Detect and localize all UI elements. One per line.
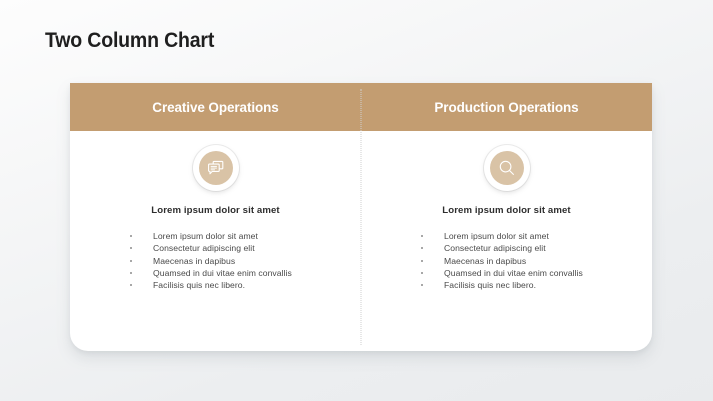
list-item: Consectetur adipiscing elit <box>419 242 634 254</box>
list-item: Lorem ipsum dolor sit amet <box>419 230 634 242</box>
list-item: Quamsed in dui vitae enim convallis <box>419 267 634 279</box>
search-icon-badge <box>484 145 530 191</box>
list-item: Maecenas in dapibus <box>128 255 343 267</box>
page-title: Two Column Chart <box>45 29 214 53</box>
list-item: Consectetur adipiscing elit <box>128 242 343 254</box>
documents-icon-badge <box>193 145 239 191</box>
two-column-card: Creative Operations Production Operation… <box>70 83 652 351</box>
bullet-list-production-operations: Lorem ipsum dolor sit amet Consectetur a… <box>419 230 634 291</box>
list-item: Facilisis quis nec libero. <box>419 279 634 291</box>
column-production-operations: Lorem ipsum dolor sit amet Lorem ipsum d… <box>361 131 652 351</box>
list-item: Quamsed in dui vitae enim convallis <box>128 267 343 279</box>
search-icon <box>490 151 524 185</box>
column-subtitle: Lorem ipsum dolor sit amet <box>361 205 652 216</box>
column-header-production-operations: Production Operations <box>361 83 652 131</box>
list-item: Lorem ipsum dolor sit amet <box>128 230 343 242</box>
slide-canvas: Two Column Chart Creative Operations Pro… <box>0 0 713 401</box>
column-creative-operations: Lorem ipsum dolor sit amet Lorem ipsum d… <box>70 131 361 351</box>
column-divider <box>361 89 362 345</box>
documents-icon <box>199 151 233 185</box>
list-item: Facilisis quis nec libero. <box>128 279 343 291</box>
list-item: Maecenas in dapibus <box>419 255 634 267</box>
column-header-creative-operations: Creative Operations <box>70 83 361 131</box>
column-subtitle: Lorem ipsum dolor sit amet <box>70 205 361 216</box>
bullet-list-creative-operations: Lorem ipsum dolor sit amet Consectetur a… <box>128 230 343 291</box>
